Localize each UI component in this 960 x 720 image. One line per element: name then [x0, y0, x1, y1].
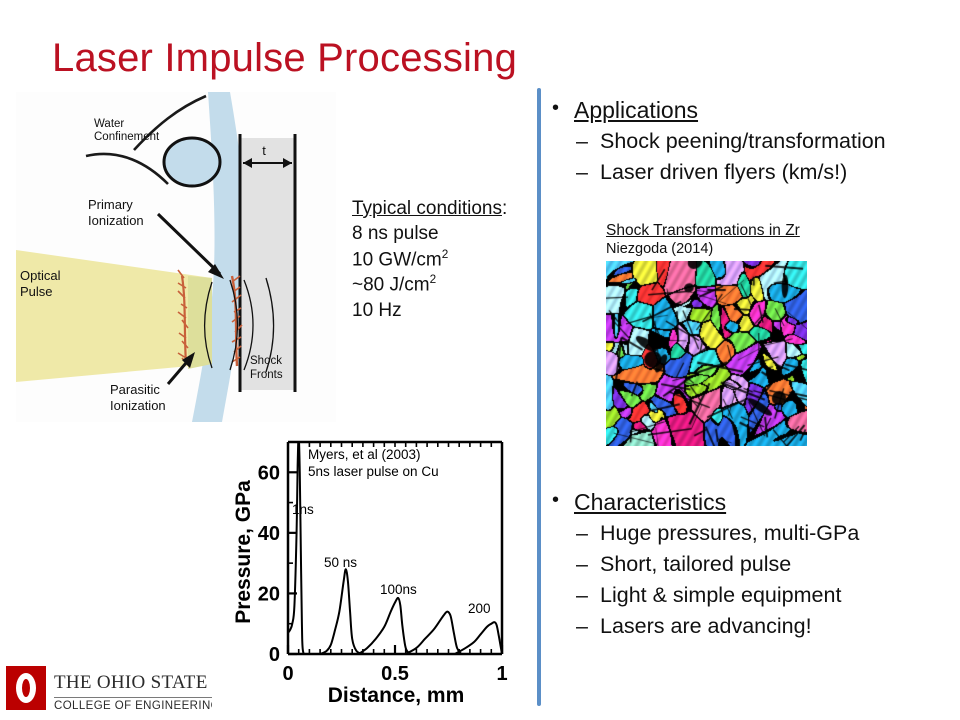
- dash-icon: –: [576, 551, 600, 579]
- characteristics-item: – Huge pressures, multi-GPa: [576, 520, 952, 548]
- conditions-header: Typical conditions:: [352, 196, 507, 221]
- dash-icon: –: [576, 613, 600, 641]
- applications-item: – Shock peening/transformation: [576, 128, 952, 156]
- osu-college-name: COLLEGE OF ENGINEERING: [54, 700, 212, 712]
- chart-ytick-label: 0: [269, 644, 280, 666]
- ebsd-orientation-map: [606, 261, 807, 446]
- slide-canvas: Laser Impulse Processing: [0, 0, 960, 720]
- water-confinement-label-line2: Confinement: [94, 131, 160, 143]
- osu-university-name: THE OHIO STATE UN: [54, 672, 212, 694]
- chart-annotation-100ns: 100ns: [380, 582, 417, 597]
- characteristics-heading: • Characteristics: [552, 488, 952, 517]
- chart-ylabel: Pressure, GPa: [232, 480, 255, 624]
- characteristics-item-text: Light & simple equipment: [600, 582, 841, 610]
- chart-annotation-50ns: 50 ns: [324, 555, 357, 570]
- dash-icon: –: [576, 582, 600, 610]
- ebsd-figure-credit: Niezgoda (2014): [606, 241, 816, 257]
- chart-ytick-label: 60: [258, 462, 280, 484]
- chart-xtick-label: 1: [496, 663, 507, 685]
- primary-ionization-label-line2: Ionization: [88, 213, 144, 228]
- characteristics-item-text: Short, tailored pulse: [600, 551, 791, 579]
- optical-pulse-label-line1: Optical: [20, 268, 61, 283]
- chart-annotation-1ns: 1ns: [292, 502, 314, 517]
- thickness-label: t: [262, 143, 266, 158]
- optical-pulse-label-line2: Pulse: [20, 284, 53, 299]
- shock-fronts-label-line1: Shock: [250, 355, 282, 367]
- chart-xtick-label: 0: [282, 663, 293, 685]
- applications-heading: • Applications: [552, 96, 952, 125]
- ebsd-figure-title: Shock Transformations in Zr: [606, 222, 816, 240]
- bullet-icon: •: [552, 96, 574, 121]
- conditions-line-3: ~80 J/cm2: [352, 272, 507, 298]
- pressure-distance-chart: 00.510204060 Pressure, GPa Distance, mm …: [216, 432, 516, 708]
- conditions-line-3-base: ~80 J/cm: [352, 274, 430, 295]
- characteristics-item-text: Huge pressures, multi-GPa: [600, 520, 859, 548]
- bullet-icon: •: [552, 488, 574, 513]
- parasitic-ionization-label-line2: Ionization: [110, 398, 166, 413]
- osu-logo: THE OHIO STATE UN COLLEGE OF ENGINEERING: [6, 664, 212, 716]
- characteristics-heading-text: Characteristics: [574, 488, 726, 517]
- conditions-line-2-sup: 2: [442, 248, 449, 261]
- osu-block-o-icon: [6, 666, 46, 710]
- nozzle-ellipse: [164, 138, 220, 186]
- column-divider: [537, 88, 541, 706]
- dash-icon: –: [576, 520, 600, 548]
- dash-icon: –: [576, 159, 600, 187]
- conditions-header-text: Typical conditions: [352, 198, 502, 219]
- conditions-line-2-base: 10 GW/cm: [352, 249, 442, 270]
- characteristics-item-text: Lasers are advancing!: [600, 613, 812, 641]
- applications-block: • Applications – Shock peening/transform…: [552, 96, 952, 190]
- page-title: Laser Impulse Processing: [52, 36, 517, 81]
- chart-ytick-label: 40: [258, 523, 280, 545]
- conditions-line-3-sup: 2: [430, 273, 437, 286]
- conditions-line-1: 8 ns pulse: [352, 221, 507, 246]
- parasitic-ionization-label-line1: Parasitic: [110, 382, 160, 397]
- primary-ionization-label-line1: Primary: [88, 197, 133, 212]
- applications-heading-text: Applications: [574, 96, 698, 125]
- applications-item-text: Shock peening/transformation: [600, 128, 886, 156]
- shock-fronts-label-line2: Fronts: [250, 369, 283, 381]
- applications-item: – Laser driven flyers (km/s!): [576, 159, 952, 187]
- characteristics-item: – Lasers are advancing!: [576, 613, 952, 641]
- osu-logo-rule: [54, 697, 212, 698]
- typical-conditions-block: Typical conditions: 8 ns pulse 10 GW/cm2…: [352, 196, 507, 323]
- chart-xtick-label: 0.5: [381, 663, 409, 685]
- laser-shock-schematic: t: [16, 92, 336, 422]
- ebsd-figure: Shock Transformations in Zr Niezgoda (20…: [606, 222, 816, 446]
- characteristics-item: – Short, tailored pulse: [576, 551, 952, 579]
- characteristics-block: • Characteristics – Huge pressures, mult…: [552, 488, 952, 644]
- chart-caption-line2: 5ns laser pulse on Cu: [308, 464, 439, 479]
- applications-item-text: Laser driven flyers (km/s!): [600, 159, 847, 187]
- chart-ytick-label: 20: [258, 583, 280, 605]
- water-confinement-label-line1: Water: [94, 118, 124, 130]
- target-plate: [240, 138, 296, 390]
- conditions-line-4: 10 Hz: [352, 298, 507, 323]
- chart-caption-line1: Myers, et al (2003): [308, 447, 421, 462]
- chart-xlabel: Distance, mm: [328, 684, 465, 707]
- dash-icon: –: [576, 128, 600, 156]
- characteristics-item: – Light & simple equipment: [576, 582, 952, 610]
- chart-annotation-200: 200: [468, 601, 491, 616]
- conditions-header-colon: :: [502, 198, 507, 219]
- conditions-line-2: 10 GW/cm2: [352, 247, 507, 273]
